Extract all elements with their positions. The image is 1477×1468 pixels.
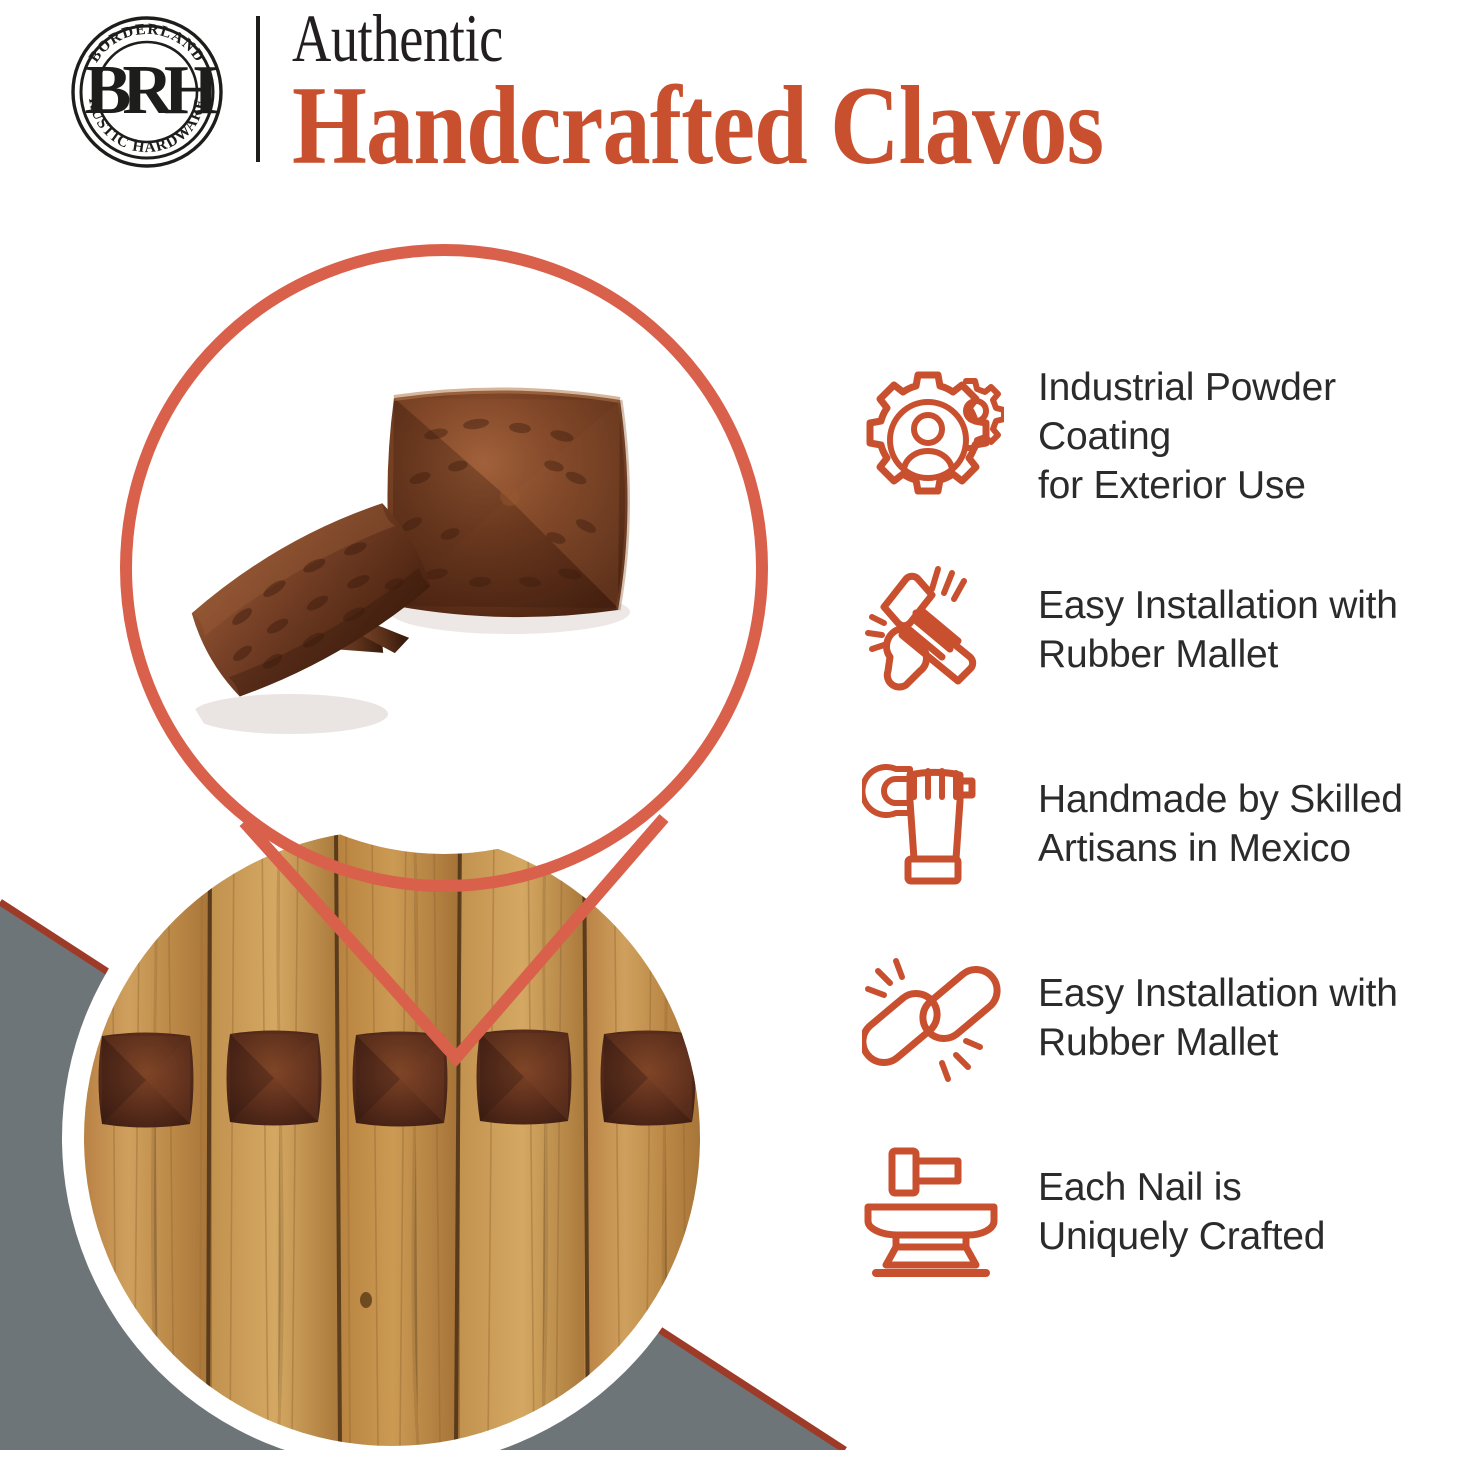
- page-title: Authentic Handcrafted Clavos: [292, 6, 1412, 178]
- gear-person-icon: [862, 365, 1012, 507]
- hand-mallet-icon: [862, 559, 1012, 701]
- feature-line-1: Handmade by Skilled: [1038, 775, 1403, 824]
- feature-list: Industrial Powder Coating for Exterior U…: [862, 362, 1472, 1286]
- anvil-hammer-icon: [862, 1141, 1012, 1283]
- list-item: Easy Installation with Rubber Mallet: [862, 556, 1472, 704]
- feature-line-1: Easy Installation with: [1038, 581, 1398, 630]
- list-item: Industrial Powder Coating for Exterior U…: [862, 362, 1472, 510]
- brand-logo-svg: BORDERLAND RUSTIC HARDWARE BRH: [52, 14, 242, 169]
- product-closeup-circle: [124, 248, 764, 888]
- feature-label: Each Nail is Uniquely Crafted: [1038, 1163, 1325, 1261]
- feature-line-2: Rubber Mallet: [1038, 1018, 1398, 1067]
- feature-line-2: Rubber Mallet: [1038, 630, 1398, 679]
- feature-line-2: for Exterior Use: [1038, 461, 1472, 510]
- feature-label: Handmade by Skilled Artisans in Mexico: [1038, 775, 1403, 873]
- title-main: Handcrafted Clavos: [292, 74, 1255, 178]
- fist-wrench-icon: [862, 753, 1012, 895]
- feature-label: Easy Installation with Rubber Mallet: [1038, 969, 1398, 1067]
- page-header: BORDERLAND RUSTIC HARDWARE BRH Authentic…: [0, 0, 1477, 200]
- list-item: Handmade by Skilled Artisans in Mexico: [862, 750, 1472, 898]
- feature-line-1: Easy Installation with: [1038, 969, 1398, 1018]
- title-eyebrow: Authentic: [292, 6, 1188, 70]
- feature-line-2: Artisans in Mexico: [1038, 824, 1403, 873]
- feature-line-1: Each Nail is: [1038, 1163, 1325, 1212]
- brand-logo: BORDERLAND RUSTIC HARDWARE BRH: [52, 14, 242, 169]
- list-item: Each Nail is Uniquely Crafted: [862, 1138, 1472, 1286]
- feature-line-2: Uniquely Crafted: [1038, 1212, 1325, 1261]
- feature-label: Industrial Powder Coating for Exterior U…: [1038, 363, 1472, 510]
- logo-monogram-text: BRH: [85, 52, 218, 129]
- list-item: Easy Installation with Rubber Mallet: [862, 944, 1472, 1092]
- header-divider: [256, 16, 260, 162]
- chain-link-icon: [862, 947, 1012, 1089]
- product-closeup-photo: [158, 282, 730, 854]
- product-imagery: [0, 170, 840, 1450]
- feature-label: Easy Installation with Rubber Mallet: [1038, 581, 1398, 679]
- two-clavos-illustration-svg: [158, 282, 730, 854]
- feature-line-1: Industrial Powder Coating: [1038, 363, 1472, 461]
